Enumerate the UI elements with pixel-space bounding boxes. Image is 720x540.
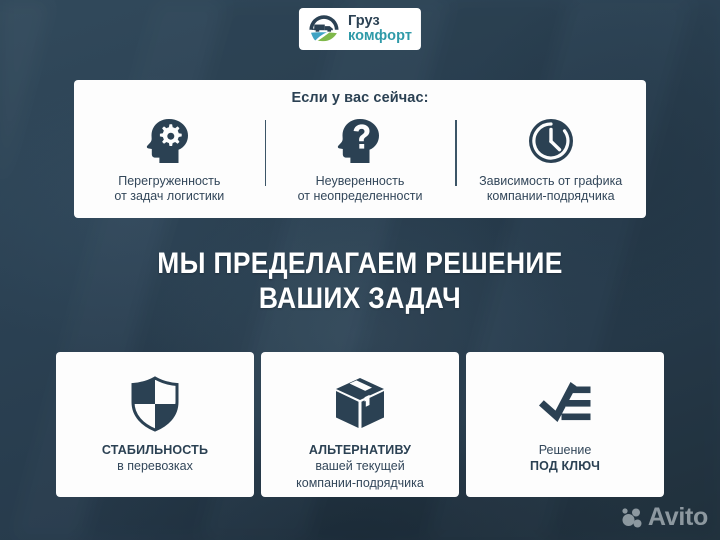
head-with-question-mark-icon: [336, 114, 384, 168]
brand-logo-text: Груз комфорт: [348, 14, 412, 44]
pain-point-schedule-text: Зависимость от графика компании-подрядчи…: [479, 174, 622, 204]
brand-logo-line1: Груз: [348, 14, 412, 29]
pain-point-overload-text: Перегруженность от задач логистики: [114, 174, 224, 204]
benefit-card-stability[interactable]: СТАБИЛЬНОСТЬ в перевозках: [56, 352, 254, 497]
pain-points-panel: Если у вас сейчас: Перегруженность от за…: [74, 80, 646, 218]
pain-point-schedule-dependency: Зависимость от графика компании-подрядчи…: [455, 114, 646, 218]
benefit-card-alternative-regular: вашей текущей компании-подрядчика: [296, 458, 424, 491]
checkmark-list-icon: [535, 375, 595, 433]
benefit-card-stability-bold: СТАБИЛЬНОСТЬ: [102, 442, 208, 458]
clock-icon: [526, 114, 576, 168]
brand-logo-line2: комфорт: [348, 29, 412, 44]
pain-points-title: Если у вас сейчас:: [74, 90, 646, 106]
benefit-card-turnkey-text: Решение ПОД КЛЮЧ: [530, 442, 600, 475]
benefit-card-alternative-text: АЛЬТЕРНАТИВУ вашей текущей компании-подр…: [296, 442, 424, 491]
pain-point-overload: Перегруженность от задач логистики: [74, 114, 265, 218]
benefit-card-stability-regular: в перевозках: [102, 458, 208, 474]
box-package-icon: [331, 375, 389, 433]
truck-road-logo-icon: [306, 12, 342, 46]
page-headline: МЫ ПРЕДЕЛАГАЕМ РЕШЕНИЕ ВАШИХ ЗАДАЧ: [43, 246, 677, 317]
head-with-gear-icon: [145, 114, 193, 168]
benefit-card-stability-text: СТАБИЛЬНОСТЬ в перевозках: [102, 442, 208, 475]
shield-icon: [129, 375, 181, 433]
pain-points-columns: Перегруженность от задач логистики Неуве…: [74, 114, 646, 218]
brand-logo[interactable]: Груз комфорт: [299, 8, 421, 50]
benefit-cards: СТАБИЛЬНОСТЬ в перевозках АЛЬТ: [56, 352, 664, 497]
benefit-card-turnkey[interactable]: Решение ПОД КЛЮЧ: [466, 352, 664, 497]
avito-watermark-label: Avito: [648, 505, 708, 530]
pain-point-uncertainty: Неуверенность от неопределенности: [265, 114, 456, 218]
avito-dots-icon: [620, 506, 644, 530]
avito-watermark: Avito: [620, 505, 708, 530]
benefit-card-alternative-bold: АЛЬТЕРНАТИВУ: [296, 442, 424, 458]
benefit-card-alternative[interactable]: АЛЬТЕРНАТИВУ вашей текущей компании-подр…: [261, 352, 459, 497]
benefit-card-turnkey-bold: ПОД КЛЮЧ: [530, 458, 600, 474]
pain-point-uncertainty-text: Неуверенность от неопределенности: [298, 174, 423, 204]
benefit-card-turnkey-regular: Решение: [530, 442, 600, 458]
